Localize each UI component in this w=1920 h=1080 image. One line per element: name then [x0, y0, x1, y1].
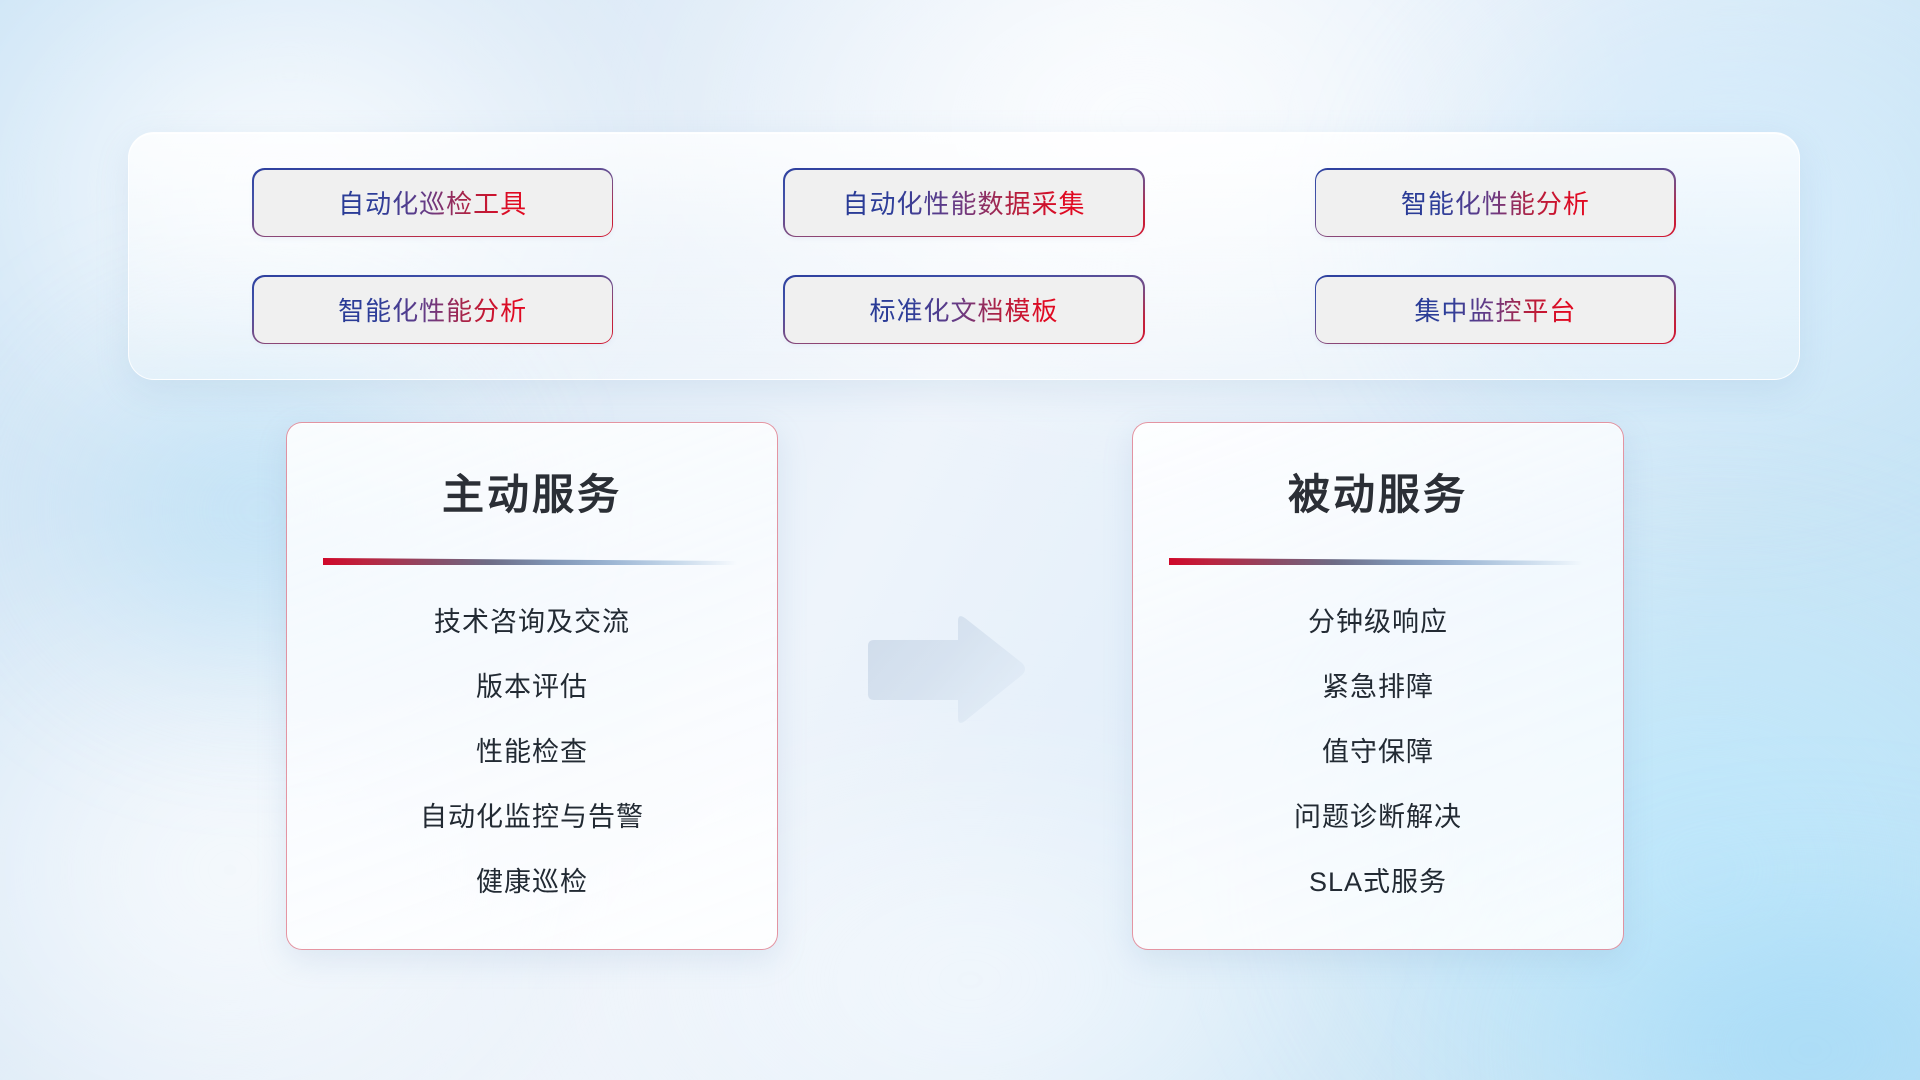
capability-pill-label: 自动化巡检工具 — [338, 184, 527, 221]
capability-pills-panel: 自动化巡检工具 自动化性能数据采集 智能化性能分析 智能化性能分析 标准化文档模… — [128, 132, 1800, 380]
card-title: 主动服务 — [321, 461, 743, 522]
service-item: 版本评估 — [476, 665, 588, 704]
service-item: 健康巡检 — [476, 860, 588, 899]
service-item: 性能检查 — [476, 730, 588, 769]
service-item-list: 技术咨询及交流 版本评估 性能检查 自动化监控与告警 健康巡检 — [321, 600, 743, 899]
service-item: SLA式服务 — [1309, 860, 1447, 899]
service-item: 紧急排障 — [1322, 665, 1434, 704]
gradient-rule — [1169, 558, 1583, 565]
capability-pill-label: 智能化性能分析 — [338, 291, 527, 328]
capability-pill-6[interactable]: 集中监控平台 — [1316, 277, 1674, 343]
gradient-rule — [323, 558, 737, 565]
service-item: 分钟级响应 — [1308, 600, 1448, 639]
service-item-list: 分钟级响应 紧急排障 值守保障 问题诊断解决 SLA式服务 — [1167, 600, 1589, 899]
capability-pill-2[interactable]: 自动化性能数据采集 — [785, 170, 1143, 236]
service-item: 问题诊断解决 — [1294, 795, 1462, 834]
capability-pill-label: 标准化文档模板 — [869, 291, 1058, 328]
capability-pill-label: 自动化性能数据采集 — [842, 184, 1085, 221]
card-title: 被动服务 — [1167, 461, 1589, 522]
card-divider — [1167, 548, 1589, 574]
capability-pill-4[interactable]: 智能化性能分析 — [254, 277, 612, 343]
capability-pill-5[interactable]: 标准化文档模板 — [785, 277, 1143, 343]
capability-pill-1[interactable]: 自动化巡检工具 — [254, 170, 612, 236]
service-item: 技术咨询及交流 — [434, 600, 630, 639]
capability-pill-label: 智能化性能分析 — [1401, 184, 1590, 221]
service-item: 自动化监控与告警 — [420, 795, 644, 834]
capability-pill-3[interactable]: 智能化性能分析 — [1316, 170, 1674, 236]
service-item: 值守保障 — [1322, 730, 1434, 769]
service-card-active[interactable]: 主动服务 技术咨询及交流 版本评估 性能检查 自动化监控与告警 健康巡检 — [286, 422, 778, 950]
capability-pill-label: 集中监控平台 — [1414, 291, 1576, 328]
card-divider — [321, 548, 743, 574]
arrow-right-icon — [862, 612, 1028, 728]
service-card-passive[interactable]: 被动服务 分钟级响应 紧急排障 值守保障 问题诊断解决 SLA式服务 — [1132, 422, 1624, 950]
